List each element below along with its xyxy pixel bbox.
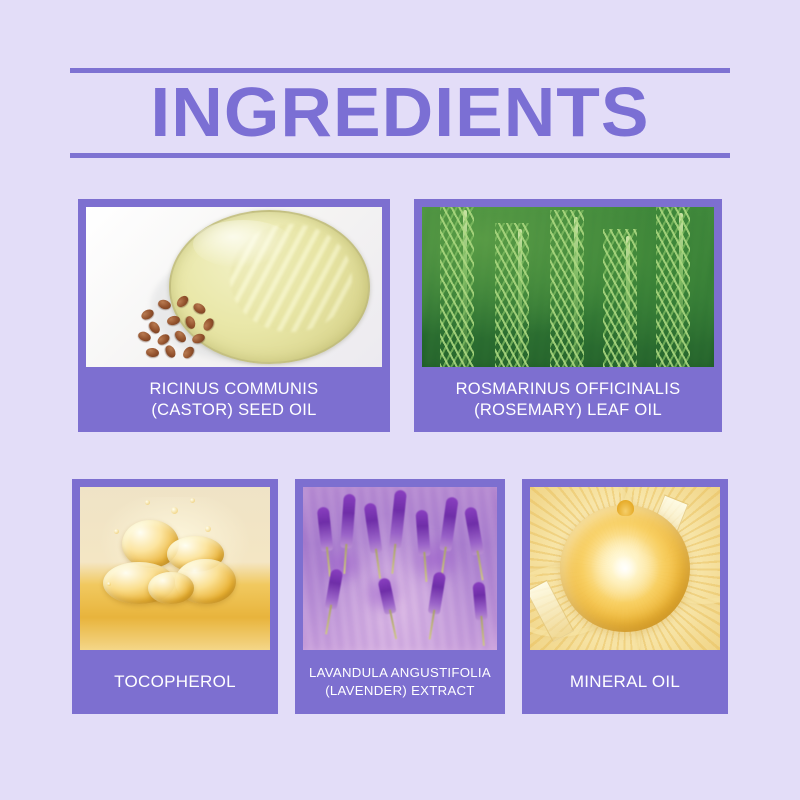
page-title-block: INGREDIENTS bbox=[70, 62, 730, 162]
ingredient-label-line2: (ROSEMARY) LEAF OIL bbox=[474, 401, 662, 419]
ingredient-card-lavender[interactable]: LAVANDULA ANGUSTIFOLIA (LAVENDER) EXTRAC… bbox=[295, 479, 505, 714]
ingredient-label-lavender: LAVANDULA ANGUSTIFOLIA (LAVENDER) EXTRAC… bbox=[303, 650, 497, 714]
ingredient-image-lavender bbox=[303, 487, 497, 650]
ingredients-infographic: INGREDIENTS bbox=[0, 0, 800, 800]
ingredient-label-tocopherol: TOCOPHEROL bbox=[80, 650, 270, 714]
ingredient-label-line1: TOCOPHEROL bbox=[114, 671, 236, 693]
ingredient-label-line1: ROSMARINUS OFFICINALIS bbox=[456, 380, 681, 398]
ingredient-label-line1: MINERAL OIL bbox=[570, 671, 680, 693]
ingredient-label-line1: RICINUS COMMUNIS bbox=[150, 380, 319, 398]
title-rule-bottom bbox=[70, 153, 730, 158]
ingredient-label-line2: (LAVENDER) EXTRACT bbox=[325, 683, 475, 698]
ingredient-label-mineral-oil: MINERAL OIL bbox=[530, 650, 720, 714]
castor-beans bbox=[133, 290, 257, 360]
ingredient-label-line2: (CASTOR) SEED OIL bbox=[151, 401, 316, 419]
ingredient-image-rosemary bbox=[422, 207, 714, 367]
ingredient-card-tocopherol[interactable]: TOCOPHEROL bbox=[72, 479, 278, 714]
ingredient-label-rosemary: ROSMARINUS OFFICINALIS (ROSEMARY) LEAF O… bbox=[422, 367, 714, 432]
ingredient-card-mineral-oil[interactable]: MINERAL OIL bbox=[522, 479, 728, 714]
ingredient-image-tocopherol bbox=[80, 487, 270, 650]
ingredient-label-castor: RICINUS COMMUNIS (CASTOR) SEED OIL bbox=[86, 367, 382, 432]
ingredient-image-castor bbox=[86, 207, 382, 367]
ingredient-card-rosemary[interactable]: ROSMARINUS OFFICINALIS (ROSEMARY) LEAF O… bbox=[414, 199, 722, 432]
page-title: INGREDIENTS bbox=[63, 70, 736, 154]
ingredient-image-mineral-oil bbox=[530, 487, 720, 650]
ingredient-label-line1: LAVANDULA ANGUSTIFOLIA bbox=[309, 665, 491, 680]
ingredient-card-castor[interactable]: RICINUS COMMUNIS (CASTOR) SEED OIL bbox=[78, 199, 390, 432]
